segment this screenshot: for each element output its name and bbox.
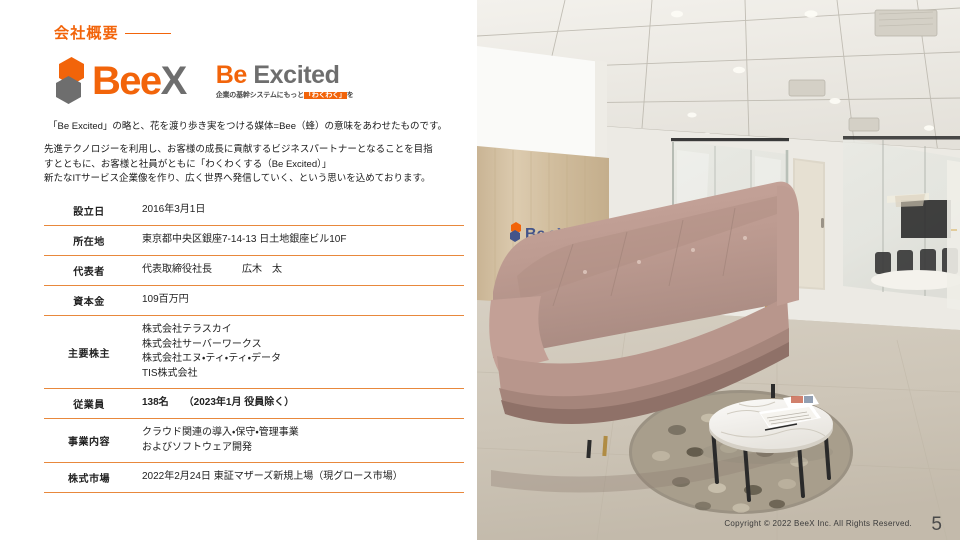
table-row: 代表者代表取締役社長 広木 太: [44, 256, 464, 286]
row-value: クラウド関連の導入・保守・管理事業 およびソフトウェア開発: [134, 419, 464, 463]
table-row: 資本金109百万円: [44, 286, 464, 316]
headline-excited: Excited: [253, 61, 339, 89]
row-value: 2022年2月24日 東証マザーズ新規上場（現グロース市場）: [134, 463, 464, 493]
table-row: 従業員138名 （2023年1月 役員除く）: [44, 389, 464, 419]
copyright-text: Copyright © 2022 BeeX Inc. All Rights Re…: [724, 519, 912, 528]
row-label: 株式市場: [44, 463, 134, 493]
wordmark-bee: Bee: [92, 59, 161, 103]
tagline-highlight: 「わくわく」: [304, 92, 347, 99]
mission-line-2: すとともに、お客様と社員がともに「わくわくする（Be Excited）」: [44, 158, 464, 173]
page-number: 5: [931, 515, 942, 534]
mission-line-1: 先進テクノロジーを利用し、お客様の成長に貢献するビジネスパートナーとなることを目…: [44, 143, 464, 158]
company-info-body: 設立日2016年3月1日所在地東京都中央区銀座7-14-13 日土地銀座ビル10…: [44, 196, 464, 493]
table-row: 株式市場2022年2月24日 東証マザーズ新規上場（現グロース市場）: [44, 463, 464, 493]
company-info-table: 設立日2016年3月1日所在地東京都中央区銀座7-14-13 日土地銀座ビル10…: [44, 196, 464, 493]
be-excited-headline: Be Excited: [216, 62, 354, 88]
table-row: 所在地東京都中央区銀座7-14-13 日土地銀座ビル10F: [44, 226, 464, 256]
row-value: 109百万円: [134, 286, 464, 316]
wordmark-x: X: [161, 59, 186, 103]
row-label: 資本金: [44, 286, 134, 316]
row-value: 138名 （2023年1月 役員除く）: [134, 389, 464, 419]
row-label: 代表者: [44, 256, 134, 286]
row-value: 2016年3月1日: [134, 196, 464, 226]
hexagon-mark-icon: [56, 57, 86, 105]
title-underline-rule: [125, 33, 171, 34]
be-excited-tagline: 企業の基幹システムにもっと「わくわく」を: [216, 90, 354, 100]
beex-wordmark: BeeX: [92, 61, 186, 101]
section-title-group: 会社概要: [54, 26, 444, 41]
headline-be: Be: [216, 61, 254, 89]
brand-mission-text: 先進テクノロジーを利用し、お客様の成長に貢献するビジネスパートナーとなることを目…: [44, 143, 464, 187]
row-value: 東京都中央区銀座7-14-13 日土地銀座ビル10F: [134, 226, 464, 256]
tagline-prefix: 企業の基幹システムにもっと: [216, 92, 304, 99]
table-row: 主要株主株式会社テラスカイ 株式会社サーバーワークス 株式会社エヌ・ティ・ティ・…: [44, 316, 464, 389]
row-label: 所在地: [44, 226, 134, 256]
row-label: 事業内容: [44, 419, 134, 463]
row-value: 株式会社テラスカイ 株式会社サーバーワークス 株式会社エヌ・ティ・ティ・データ …: [134, 316, 464, 389]
left-content-column: 会社概要 BeeX Be Excited 企業の基幹システムにもっと「わくわく」…: [0, 0, 477, 540]
row-label: 従業員: [44, 389, 134, 419]
table-row: 事業内容クラウド関連の導入・保守・管理事業 およびソフトウェア開発: [44, 419, 464, 463]
table-row: 設立日2016年3月1日: [44, 196, 464, 226]
row-label: 主要株主: [44, 316, 134, 389]
office-photo: Be eX: [477, 0, 960, 540]
row-label: 設立日: [44, 196, 134, 226]
brand-origin-text: 「Be Excited」の略と、花を渡り歩き実をつける媒体=Bee（蜂）の意味を…: [48, 120, 447, 134]
mission-line-3: 新たなITサービス企業像を作り、広く世界へ発信していく、という思いを込めておりま…: [44, 172, 464, 187]
slide-root: 会社概要 BeeX Be Excited 企業の基幹システムにもっと「わくわく」…: [0, 0, 960, 540]
logo-lockup-row: BeeX Be Excited 企業の基幹システムにもっと「わくわく」を: [56, 58, 354, 104]
page-title: 会社概要: [54, 26, 119, 41]
beex-logo: BeeX: [56, 58, 186, 104]
row-value: 代表取締役社長 広木 太: [134, 256, 464, 286]
be-excited-lockup: Be Excited 企業の基幹システムにもっと「わくわく」を: [216, 58, 354, 100]
tagline-suffix: を: [347, 92, 354, 99]
